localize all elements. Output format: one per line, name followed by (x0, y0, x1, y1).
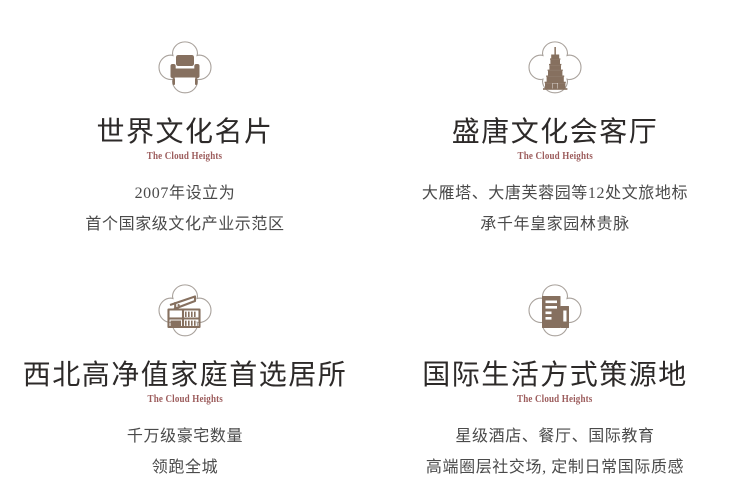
feature-subtitle: The Cloud Heights (112, 150, 257, 162)
feature-title: 国际生活方式策源地 (422, 361, 688, 392)
feature-description: 星级酒店、餐厅、国际教育 高端圈层社交场, 定制日常国际质感 (426, 421, 684, 483)
feature-description-line: 大雁塔、大唐芙蓉园等12处文旅地标 (422, 178, 688, 209)
feature-description-line: 高端圈层社交场, 定制日常国际质感 (426, 452, 684, 483)
feature-grid: 世界文化名片 The Cloud Heights 2007年设立为 首个国家级文… (0, 0, 740, 494)
feature-title-block: 世界文化名片 The Cloud Heights (96, 118, 273, 162)
feature-description-line: 首个国家级文化产业示范区 (85, 209, 284, 240)
feature-card-tang-culture: 盛唐文化会客厅 The Cloud Heights 大雁塔、大唐芙蓉园等12处文… (370, 0, 740, 247)
feature-description-line: 星级酒店、餐厅、国际教育 (426, 421, 684, 452)
feature-title: 世界文化名片 (96, 118, 273, 149)
feature-card-international-lifestyle: 国际生活方式策源地 The Cloud Heights 星级酒店、餐厅、国际教育… (370, 247, 740, 494)
feature-subtitle: The Cloud Heights (446, 393, 664, 405)
city-buildings-icon (509, 265, 601, 357)
feature-title-block: 西北高净值家庭首选居所 The Cloud Heights (23, 361, 348, 405)
feature-description: 大雁塔、大唐芙蓉园等12处文旅地标 承千年皇家园林贵脉 (422, 178, 688, 240)
feature-title: 西北高净值家庭首选居所 (23, 361, 348, 392)
feature-description-line: 承千年皇家园林贵脉 (422, 209, 688, 240)
feature-subtitle: The Cloud Heights (52, 393, 318, 405)
feature-description: 千万级豪宅数量 领跑全城 (127, 421, 243, 483)
villa-icon (139, 265, 231, 357)
feature-title: 盛唐文化会客厅 (452, 118, 659, 149)
feature-description-line: 领跑全城 (127, 452, 243, 483)
feature-card-luxury-residence: 西北高净值家庭首选居所 The Cloud Heights 千万级豪宅数量 领跑… (0, 247, 370, 494)
armchair-icon (139, 22, 231, 114)
feature-card-world-culture: 世界文化名片 The Cloud Heights 2007年设立为 首个国家级文… (0, 0, 370, 247)
feature-description-line: 2007年设立为 (85, 178, 284, 209)
feature-title-block: 盛唐文化会客厅 The Cloud Heights (452, 118, 659, 162)
feature-description: 2007年设立为 首个国家级文化产业示范区 (85, 178, 284, 240)
feature-description-line: 千万级豪宅数量 (127, 421, 243, 452)
pagoda-icon (509, 22, 601, 114)
feature-title-block: 国际生活方式策源地 The Cloud Heights (422, 361, 688, 405)
feature-subtitle: The Cloud Heights (470, 150, 639, 162)
